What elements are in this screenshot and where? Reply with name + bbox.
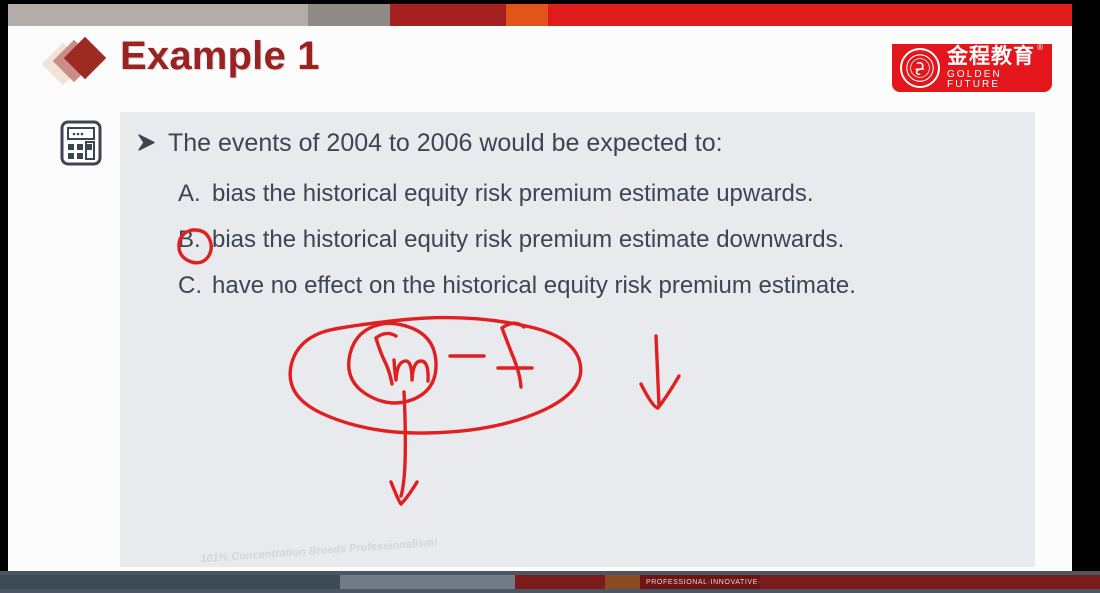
bar-segment-mid-gray — [308, 4, 390, 26]
page-title: Example 1 — [120, 34, 320, 79]
bottom-chrome-strip: PROFESSIONAL·INNOVATIVE·VALUE CREATING — [0, 571, 1100, 593]
option-letter-c: C. — [178, 272, 212, 300]
bar-segment-orange — [506, 4, 548, 26]
strip-segment-gray — [340, 575, 515, 589]
video-frame: Example 1 金程教育 ® GOLDEN FUTURE — [0, 0, 1100, 593]
bar-segment-bright-red — [548, 4, 1072, 26]
ink-arrow-down-right-head — [641, 376, 679, 408]
top-color-bar — [8, 4, 1072, 26]
strip-segment-brown — [605, 575, 640, 589]
brand-logo: 金程教育 ® GOLDEN FUTURE — [892, 44, 1052, 92]
registered-trademark-icon: ® — [1037, 44, 1044, 52]
bar-segment-warm-gray — [8, 4, 308, 26]
brand-seal-icon — [900, 48, 940, 88]
arrow-bullet-icon — [136, 130, 158, 156]
ink-glyph-m — [394, 360, 428, 381]
option-text-b: bias the historical equity risk premium … — [212, 226, 844, 254]
option-row-a[interactable]: A. bias the historical equity risk premi… — [178, 180, 814, 208]
slide-canvas: Example 1 金程教育 ® GOLDEN FUTURE — [8, 4, 1072, 584]
bar-segment-dark-red — [390, 4, 506, 26]
diamond-bullet-icon — [48, 40, 114, 86]
brand-name-cn-wrap: 金程教育 ® — [947, 46, 1035, 67]
strip-segment-tail — [760, 575, 1100, 589]
option-letter-a: A. — [178, 180, 212, 208]
question-panel: The events of 2004 to 2006 would be expe… — [120, 112, 1035, 567]
question-text: The events of 2004 to 2006 would be expe… — [168, 130, 723, 158]
question-line: The events of 2004 to 2006 would be expe… — [136, 130, 723, 158]
ink-glyph-gamma-m — [376, 338, 392, 384]
calculator-icon — [58, 119, 104, 167]
ink-glyph-gamma-f-hook — [502, 323, 524, 328]
strip-segment-slate — [0, 575, 340, 589]
ink-glyph-gamma-f — [502, 328, 521, 387]
slide-footer-watermark: 101% Concentration Breeds Professionalis… — [200, 537, 438, 566]
ink-arrow-down-right — [656, 336, 659, 406]
brand-name-en: GOLDEN FUTURE — [947, 70, 1052, 90]
slide-title-row: Example 1 金程教育 ® GOLDEN FUTURE — [8, 26, 1072, 98]
brand-text-block: 金程教育 ® GOLDEN FUTURE — [947, 46, 1052, 90]
brand-name-cn: 金程教育 — [947, 45, 1035, 68]
ink-circle-rm-term — [349, 323, 436, 403]
ink-arrow-down-from-rm — [401, 392, 405, 496]
option-letter-b: B. — [178, 226, 212, 254]
ink-ellipse-formula — [290, 318, 581, 433]
strip-segment-maroon — [515, 575, 605, 589]
strip-segment-dark-red: PROFESSIONAL·INNOVATIVE·VALUE CREATING — [640, 575, 760, 589]
option-row-b[interactable]: B. bias the historical equity risk premi… — [178, 226, 844, 254]
ink-glyph-gamma-hook — [376, 333, 396, 338]
option-text-c: have no effect on the historical equity … — [212, 272, 856, 300]
ink-arrow-down-from-rm-head — [391, 482, 417, 504]
option-row-c[interactable]: C. have no effect on the historical equi… — [178, 272, 856, 300]
option-text-a: bias the historical equity risk premium … — [212, 180, 814, 208]
